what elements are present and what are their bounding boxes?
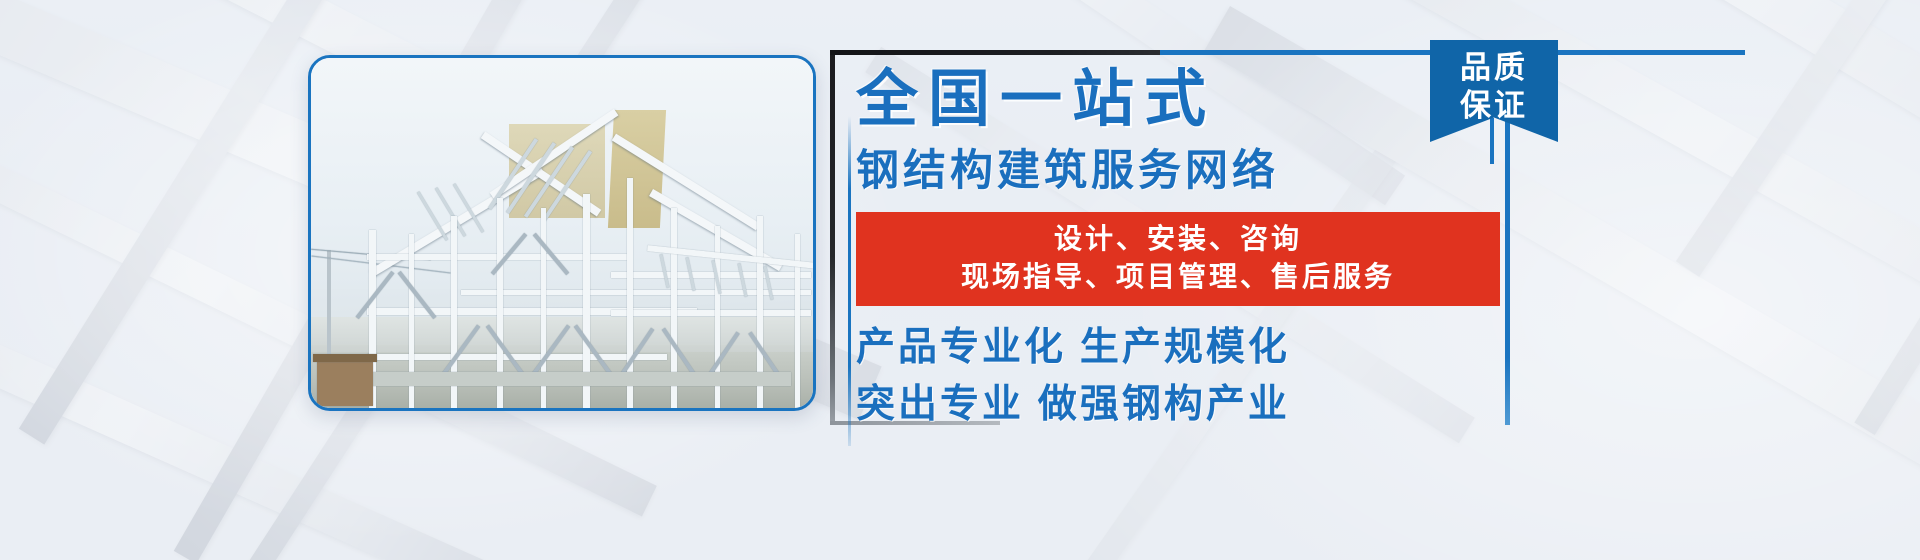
photo-beam <box>611 310 811 316</box>
construction-photo-card <box>308 55 816 411</box>
photo-shed-roof <box>313 354 377 362</box>
banner-stage: 品质 保证 全国一站式 钢结构建筑服务网络 设计、安装、咨询 现场指导、项目管理… <box>0 0 1920 560</box>
photo-pole <box>327 250 331 360</box>
frame-top-border-dark <box>830 50 1160 55</box>
headline-secondary: 钢结构建筑服务网络 <box>856 142 1516 200</box>
photo-beam <box>611 272 811 278</box>
services-line-2: 现场指导、项目管理、售后服务 <box>856 258 1500 296</box>
services-line-1: 设计、安装、咨询 <box>856 220 1500 258</box>
slogan-line-2: 突出专业 做强钢构产业 <box>856 377 1516 432</box>
services-highlight-box: 设计、安装、咨询 现场指导、项目管理、售后服务 <box>856 212 1500 306</box>
photo-foundation <box>351 372 791 386</box>
banner-content: 全国一站式 钢结构建筑服务网络 设计、安装、咨询 现场指导、项目管理、售后服务 … <box>856 62 1516 432</box>
frame-inner-accent <box>848 116 851 446</box>
photo-shed <box>317 358 373 406</box>
slogan-line-1: 产品专业化 生产规模化 <box>856 320 1516 375</box>
headline-primary: 全国一站式 <box>856 62 1516 138</box>
frame-left-border <box>830 50 835 425</box>
construction-photo <box>311 58 813 408</box>
